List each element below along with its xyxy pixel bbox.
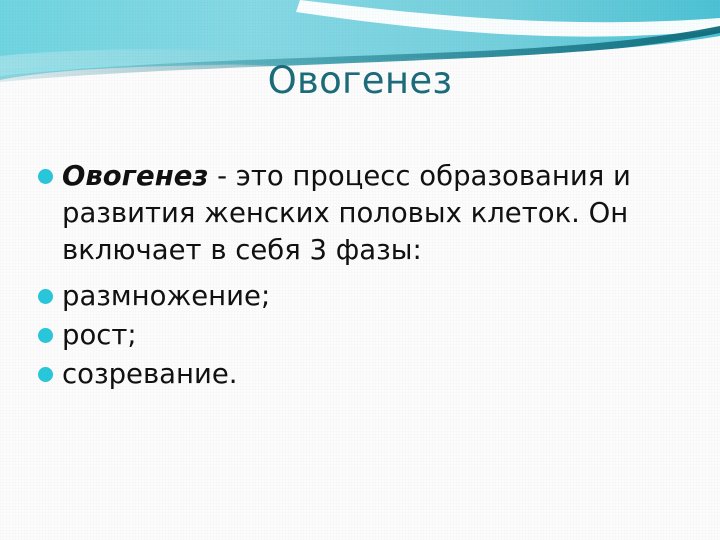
list-item: созревание. (38, 356, 678, 393)
list-item-lead-term: Овогенез (62, 160, 208, 192)
list-item-text: созревание. (62, 356, 477, 393)
list-item-text: рост; (62, 317, 477, 354)
round-bullet-icon (38, 328, 53, 343)
list-spacer (38, 271, 678, 278)
round-bullet-icon (38, 289, 53, 304)
presentation-slide: Овогенез Овогенез - это процесс образова… (0, 0, 720, 540)
list-item: размножение; (38, 278, 678, 315)
list-item: Овогенез - это процесс образования и раз… (38, 158, 678, 269)
list-item-text: Овогенез - это процесс образования и раз… (62, 158, 662, 269)
content-bullet-list: Овогенез - это процесс образования и раз… (38, 158, 678, 395)
list-item: рост; (38, 317, 678, 354)
round-bullet-icon (38, 169, 53, 184)
page-title: Овогенез (0, 58, 720, 104)
list-item-text: размножение; (62, 278, 477, 315)
round-bullet-icon (38, 367, 53, 382)
